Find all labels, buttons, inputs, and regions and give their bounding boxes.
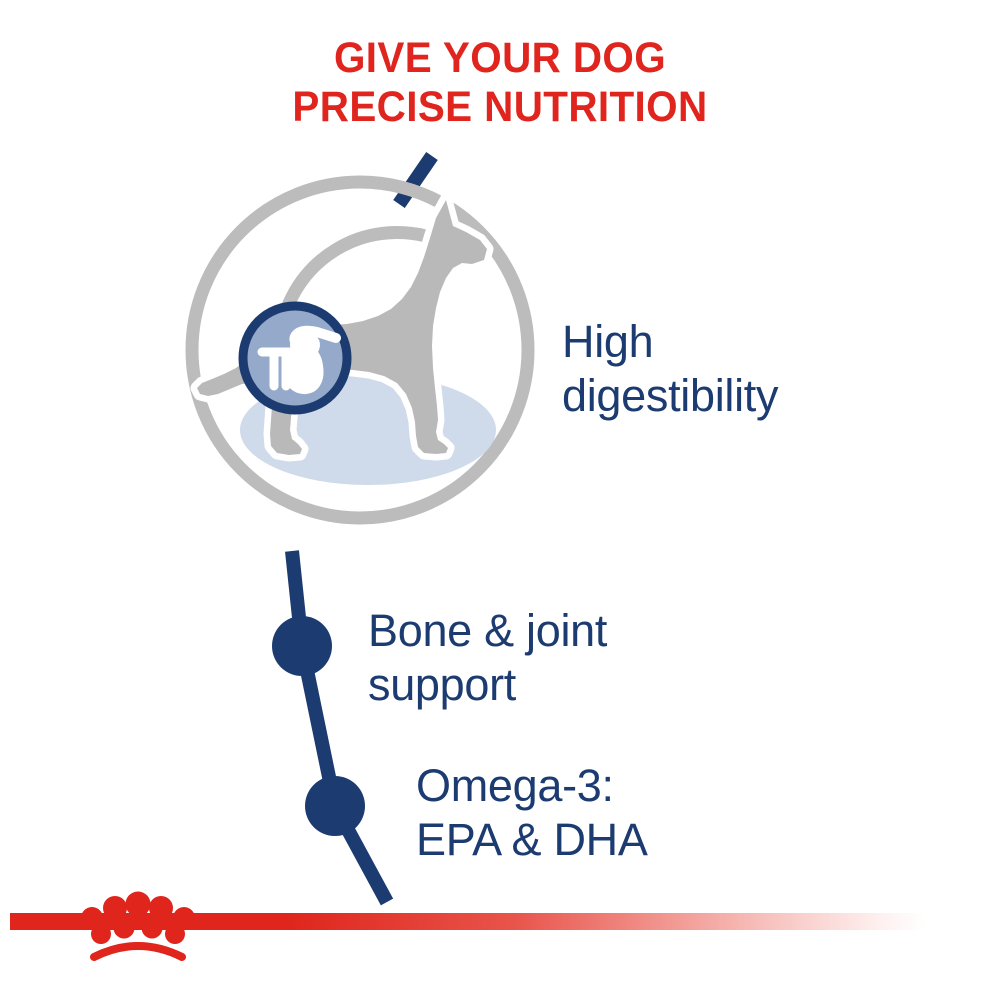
headline-line-2: PRECISE NUTRITION (30, 83, 970, 132)
connector-segment-3 (335, 806, 387, 902)
royal-canin-crown-logo (58, 887, 218, 967)
feature-label-bone-joint-support: Bone & joint support (368, 604, 607, 712)
feature-line-1: Bone & joint (368, 604, 607, 658)
feature-line-2: support (368, 658, 607, 712)
feature-line-1: High (562, 315, 778, 369)
headline-line-1: GIVE YOUR DOG (30, 34, 970, 83)
infographic-canvas: GIVE YOUR DOG PRECISE NUTRITION (0, 0, 1000, 1000)
feature-line-2: digestibility (562, 369, 778, 423)
page-title: GIVE YOUR DOG PRECISE NUTRITION (30, 34, 970, 132)
connector-node-1 (272, 616, 332, 676)
dog-digestive-illustration (150, 140, 570, 560)
feature-label-omega-3: Omega-3: EPA & DHA (416, 759, 648, 867)
footer (0, 900, 1000, 1000)
connector-segment-2 (302, 646, 335, 806)
connector-node-2 (305, 776, 365, 836)
feature-label-high-digestibility: High digestibility (562, 315, 778, 423)
feature-line-2: EPA & DHA (416, 813, 648, 867)
connector-segment-1 (292, 551, 302, 646)
feature-line-1: Omega-3: (416, 759, 648, 813)
